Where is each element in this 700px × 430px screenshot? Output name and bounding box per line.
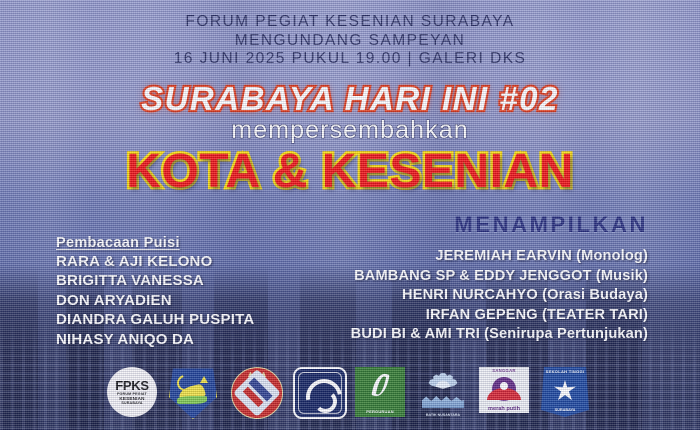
sponsor-logo-strip: FPKS FORUM PEGIAT KESENIAN SURABAYA bbox=[0, 364, 700, 422]
star-icon bbox=[200, 376, 208, 383]
shield-top-label: SEKOLAH TINGGI bbox=[541, 369, 589, 374]
event-header: FORUM PEGIAT KESENIAN SURABAYA MENGUNDAN… bbox=[0, 13, 700, 69]
logo-surabaya-city-icon bbox=[169, 367, 221, 419]
list-item: IRFAN GEPENG (TEATER TARI) bbox=[228, 306, 648, 326]
page-title: KOTA & KESENIAN bbox=[0, 144, 700, 199]
logo-green-leaf-icon: PERGURUAN bbox=[355, 367, 407, 419]
list-item: BUDI BI & AMI TRI (Senirupa Pertunjukan) bbox=[228, 325, 648, 345]
merah-putih-top-label: SANGGAR bbox=[479, 368, 529, 373]
swirl-inner-icon bbox=[314, 390, 337, 413]
crown-logo-label: BATIK NUSANTARA bbox=[417, 413, 469, 417]
logo-dks-icon bbox=[231, 367, 283, 419]
fpks-acronym: FPKS bbox=[115, 379, 148, 392]
fpks-subtitle-line3: SURABAYA bbox=[121, 401, 142, 405]
logo-merah-putih-icon: SANGGAR merah putih bbox=[479, 367, 531, 419]
list-item: JEREMIAH EARVIN (Monolog) bbox=[228, 247, 648, 267]
logo-fpks-icon: FPKS FORUM PEGIAT KESENIAN SURABAYA bbox=[107, 367, 159, 419]
featuring-heading: MENAMPILKAN bbox=[228, 212, 648, 238]
featuring-section: MENAMPILKAN JEREMIAH EARVIN (Monolog) BA… bbox=[228, 212, 648, 345]
header-line-invitation: MENGUNDANG SAMPEYAN bbox=[0, 32, 700, 51]
green-logo-label: PERGURUAN bbox=[355, 409, 405, 414]
list-item: HENRI NURCAHYO (Orasi Budaya) bbox=[228, 286, 648, 306]
list-item: BAMBANG SP & EDDY JENGGOT (Musik) bbox=[228, 267, 648, 287]
crown-base-icon bbox=[422, 395, 464, 408]
star-figure-icon bbox=[554, 380, 576, 402]
logo-blue-shield-icon: SEKOLAH TINGGI SURABAYA bbox=[541, 367, 593, 419]
poster-content: FORUM PEGIAT KESENIAN SURABAYA MENGUNDAN… bbox=[0, 0, 700, 430]
logo-crown-batik-icon: BATIK NUSANTARA bbox=[417, 367, 469, 419]
crocodile-icon bbox=[177, 396, 207, 404]
crown-top-icon bbox=[426, 370, 460, 396]
series-title: SURABAYA HARI INI #02 bbox=[0, 80, 700, 118]
dks-emblem-center bbox=[233, 369, 281, 417]
header-line-organizer: FORUM PEGIAT KESENIAN SURABAYA bbox=[0, 13, 700, 32]
white-dot-icon bbox=[500, 382, 508, 390]
event-poster: FORUM PEGIAT KESENIAN SURABAYA MENGUNDAN… bbox=[0, 0, 700, 430]
logo-balai-bahasa-icon bbox=[293, 367, 345, 419]
shield-bottom-label: SURABAYA bbox=[541, 408, 589, 412]
merah-putih-bottom-label: merah putih bbox=[479, 406, 529, 412]
presents-label: mempersembahkan bbox=[0, 116, 700, 145]
header-line-datetime-venue: 16 JUNI 2025 PUKUL 19.00 | GALERI DKS bbox=[0, 50, 700, 69]
